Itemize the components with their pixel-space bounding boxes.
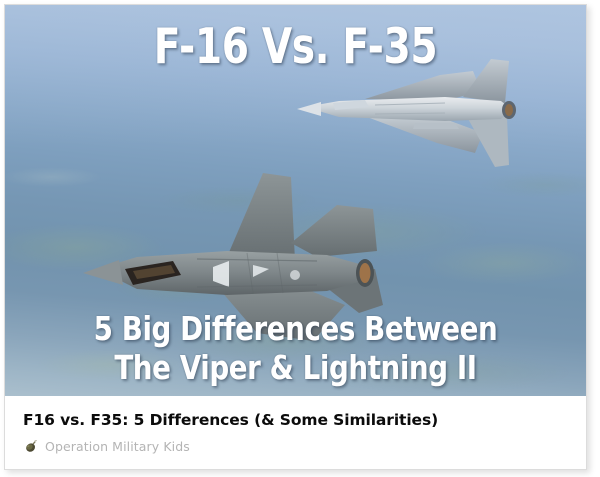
card-source-row: Operation Military Kids bbox=[23, 439, 568, 454]
hero-bottom-headline: 5 Big Differences Between The Viper & Li… bbox=[51, 310, 539, 388]
hero-top-headline: F-16 Vs. F-35 bbox=[63, 22, 528, 71]
card-title[interactable]: F16 vs. F35: 5 Differences (& Some Simil… bbox=[23, 411, 568, 429]
hero-image[interactable]: F-16 Vs. F-35 5 Big Differences Between … bbox=[5, 5, 586, 396]
card-body: F16 vs. F35: 5 Differences (& Some Simil… bbox=[5, 396, 586, 469]
card-source-name[interactable]: Operation Military Kids bbox=[45, 439, 190, 454]
link-preview-card[interactable]: F-16 Vs. F-35 5 Big Differences Between … bbox=[4, 4, 587, 470]
grenade-favicon-icon bbox=[23, 439, 38, 454]
